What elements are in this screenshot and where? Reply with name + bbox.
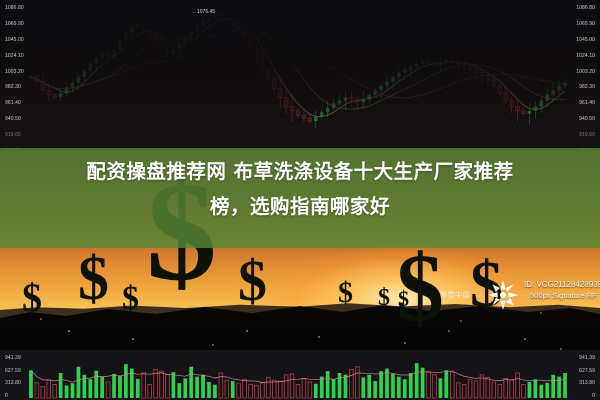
axis-tick-label: 0 [5,393,8,399]
axis-tick-label: 961.40 [579,100,595,106]
watermark-text-block: ID: VCG211284289394 500px Signature RF [524,279,600,301]
axis-tick-label: 982.30 [5,84,21,90]
axis-tick-label: 0 [592,393,595,399]
volume-chart-panel: 941.39627.59313.800 941.39627.59313.800 [0,350,600,400]
headline-line-2: 榜，选购指南哪家好 [8,189,592,224]
headline-text: 配资操盘推荐网 布草洗涤设备十大生产厂家推荐 榜，选购指南哪家好 [0,154,600,224]
axis-tick-label: 1045.00 [5,37,24,43]
axis-tick-label: 940.50 [579,116,595,122]
volume-chart-svg [0,350,600,400]
axis-tick-label: 941.39 [579,355,595,361]
axis-tick-label: 919.60 [5,132,21,138]
axis-tick-label: 313.80 [5,380,21,386]
axis-tick-label: 1003.20 [576,69,595,75]
axis-tick-label: 1086.80 [5,5,24,11]
chart-fade-veil [0,0,600,150]
axis-tick-label: 1065.90 [5,21,24,27]
watermark-id: ID: VCG211284289394 [524,279,600,290]
watermark-brand-cn: 视觉中国 [440,290,470,300]
axis-tick-label: 627.59 [5,368,21,374]
watermark: 视觉中国 ID: VCG211284289394 500px Signature… [440,276,600,316]
vcg-starburst-logo-icon [486,278,520,312]
axis-tick-label: 940.50 [5,116,21,122]
axis-tick-label: 961.40 [5,100,21,106]
axis-tick-label: 941.39 [5,355,21,361]
axis-tick-label: 982.30 [579,84,595,90]
watermark-license: 500px Signature RF [524,290,600,301]
axis-tick-label: 1045.00 [576,37,595,43]
axis-tick-label: 627.59 [579,368,595,374]
axis-tick-label: 919.60 [579,132,595,138]
axis-tick-label: 1065.90 [576,21,595,27]
axis-tick-label: 313.80 [579,380,595,386]
axis-tick-label: 1003.20 [5,69,24,75]
axis-tick-label: 1024.10 [5,53,24,59]
price-annotation: ←1076.45 [192,9,215,15]
price-chart-panel: 1086.801065.901045.001024.101003.20982.3… [0,0,600,150]
headline-line-1: 配资操盘推荐网 布草洗涤设备十大生产厂家推荐 [8,154,592,189]
axis-tick-label: 1024.10 [576,53,595,59]
screenshot-canvas: $ $ $ $ $ $ $ $ $ $ [0,0,600,400]
axis-tick-label: 1086.80 [576,5,595,11]
